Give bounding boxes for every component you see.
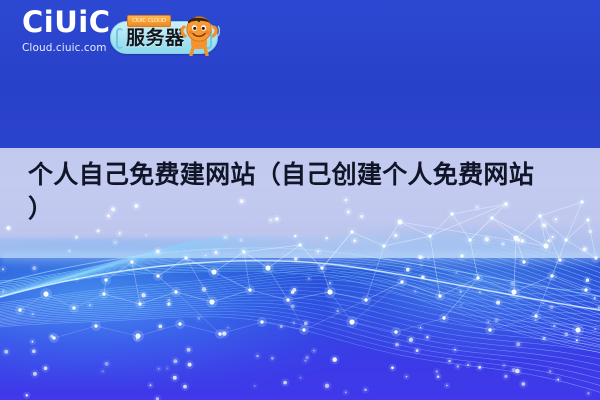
brand-logo[interactable]: CiUiC Cloud.ciuic.com [22, 8, 114, 54]
brand-wordmark: CiUiC [22, 8, 114, 37]
badge-ribbon-text: CIUIC CLOUD [128, 16, 170, 26]
banner-header: CiUiC Cloud.ciuic.com CIUIC CLOUD 服务器 [0, 0, 600, 72]
promo-banner: CiUiC Cloud.ciuic.com CIUIC CLOUD 服务器 [0, 0, 600, 400]
title-block: 个人自己免费建网站（自己创建个人免费网站 ） [0, 158, 600, 226]
orange-mascot-icon [178, 12, 220, 56]
page-title-line-1: 个人自己免费建网站（自己创建个人免费网站 [28, 158, 572, 192]
brand-domain: Cloud.ciuic.com [22, 42, 114, 54]
badge-label: 服务器 [126, 27, 185, 50]
page-title-line-2: ） [28, 192, 572, 226]
badge-ribbon: CIUIC CLOUD [127, 15, 171, 27]
badge-bracket-left-icon [116, 28, 123, 49]
